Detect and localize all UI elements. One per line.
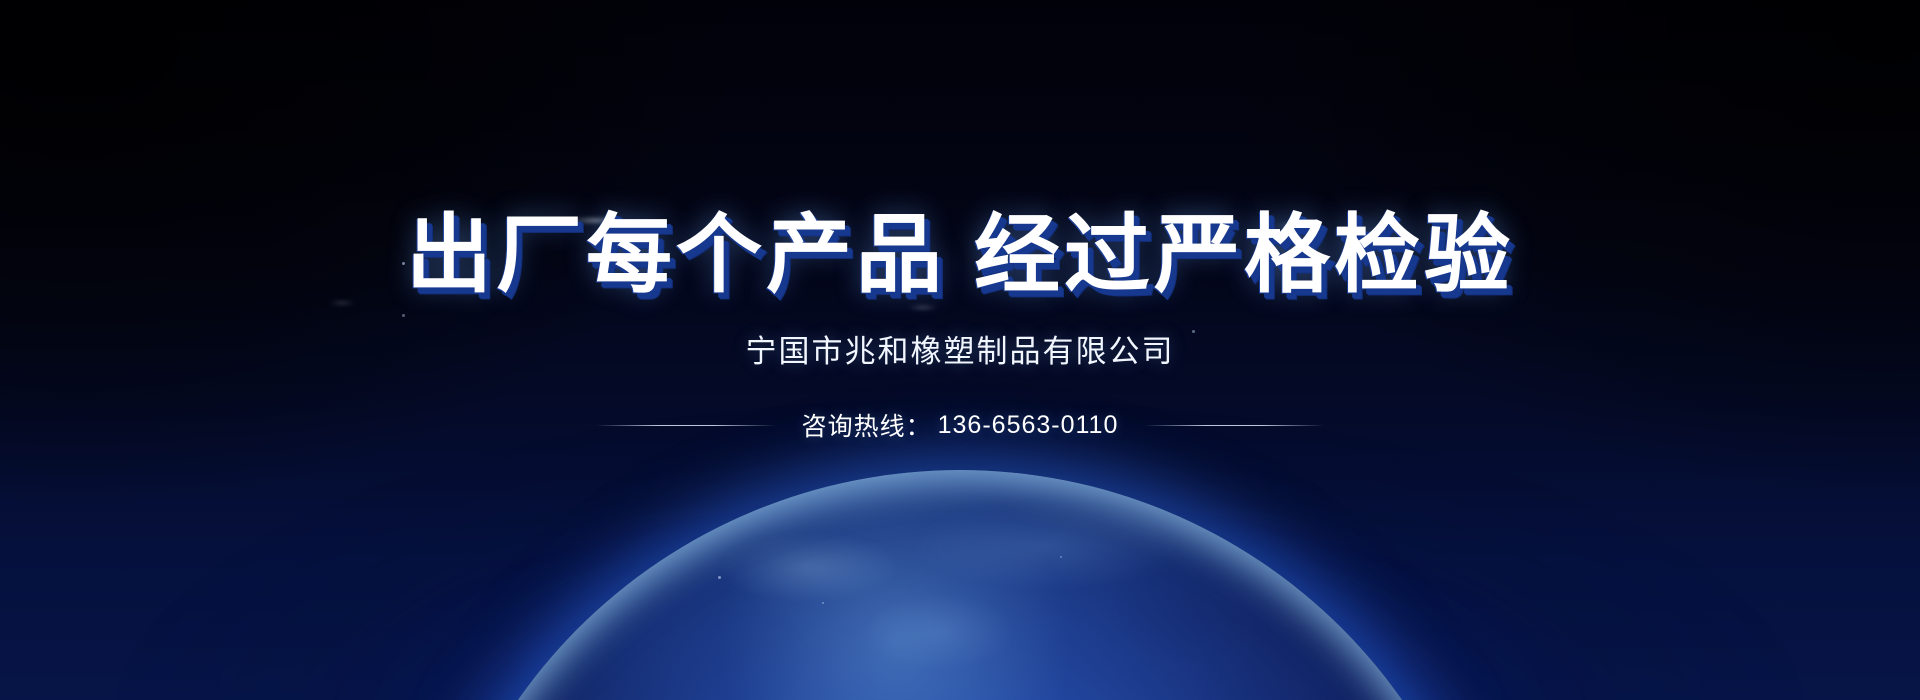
company-name: 宁国市兆和橡塑制品有限公司 <box>746 326 1175 371</box>
hotline-label: 咨询热线： <box>802 407 932 443</box>
divider-left <box>596 425 776 426</box>
page-title: 出厂每个产品 经过严格检验 <box>406 210 1514 300</box>
divider-right <box>1144 425 1324 426</box>
contact-hotline-row: 咨询热线： 136-6563-0110 <box>596 407 1325 443</box>
hotline-number[interactable]: 136-6563-0110 <box>938 411 1119 440</box>
banner-content: 出厂每个产品 经过严格检验 宁国市兆和橡塑制品有限公司 咨询热线： 136-65… <box>0 0 1920 700</box>
hero-banner: 出厂每个产品 经过严格检验 宁国市兆和橡塑制品有限公司 咨询热线： 136-65… <box>0 0 1920 700</box>
